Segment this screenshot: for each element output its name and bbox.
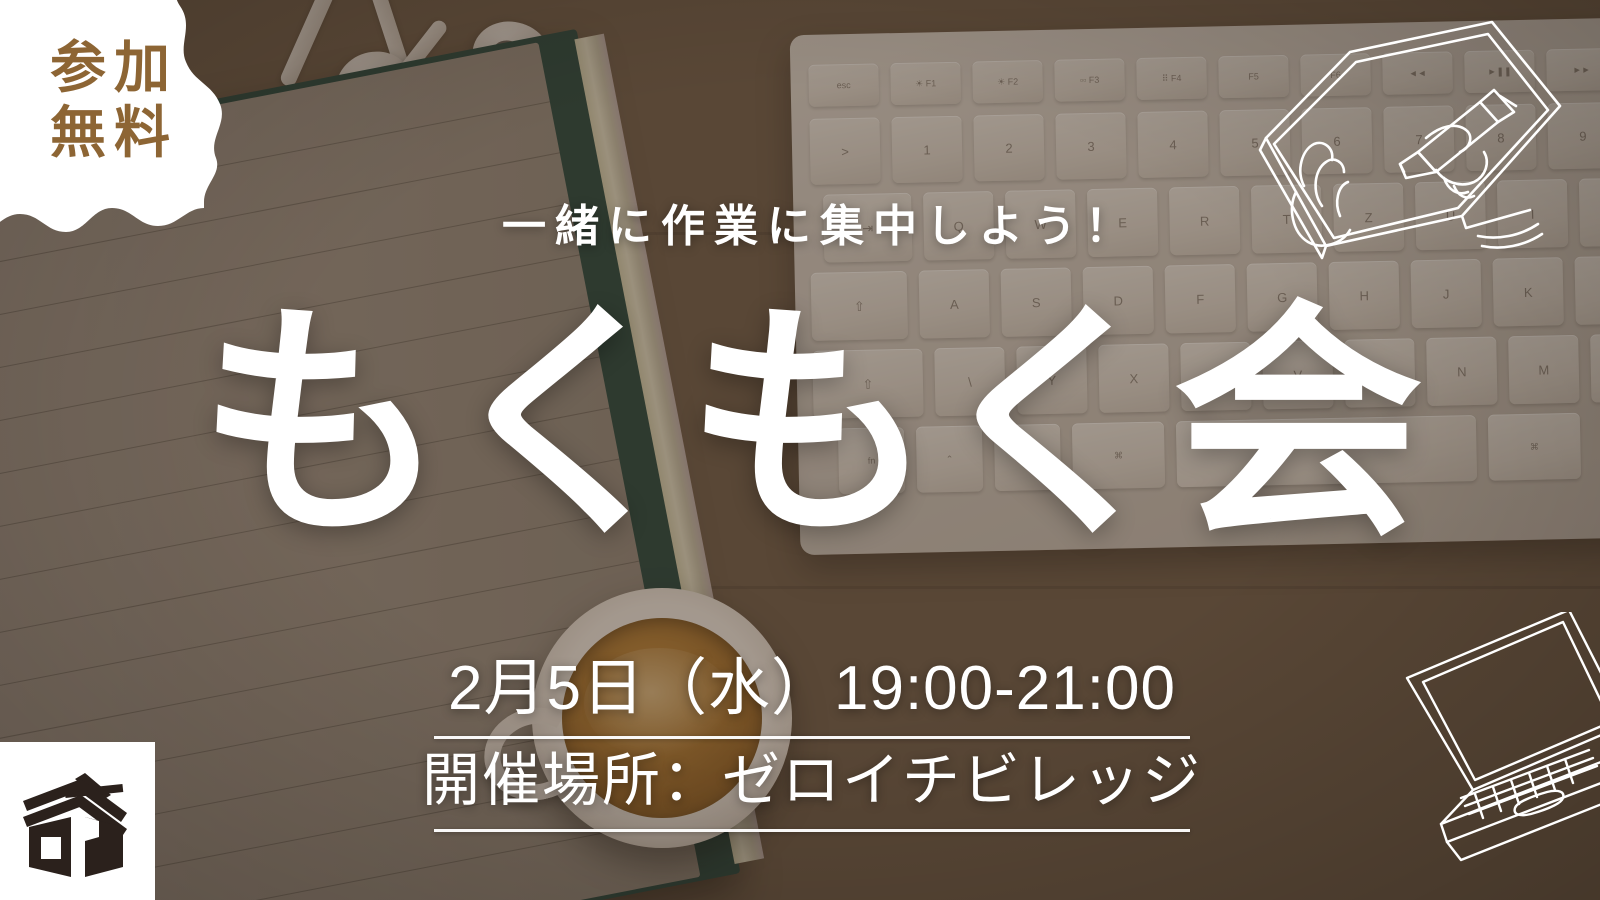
event-venue: 開催場所：ゼロイチビレッジ	[422, 739, 1202, 826]
poster-canvas: esc ☀ F1 ☀ F2 ▫▫ F3 ⠿ F4 F5 F6 ◄◄ ►❚❚ ►►…	[0, 0, 1600, 900]
zeroichi-village-logo	[0, 742, 155, 900]
divider-top	[434, 736, 1190, 739]
badge-line-1: 参加	[42, 38, 178, 97]
village-house-logo-icon	[19, 765, 137, 877]
page-title: もくもく会	[0, 300, 1600, 550]
badge-line-2: 無料	[42, 103, 178, 162]
event-datetime: 2月5日（水）19:00-21:00	[448, 650, 1176, 728]
event-info-block: 2月5日（水）19:00-21:00 開催場所：ゼロイチビレッジ	[0, 650, 1600, 832]
subtitle: 一緒に作業に集中しよう！	[0, 190, 1600, 254]
divider-bottom	[434, 829, 1190, 832]
